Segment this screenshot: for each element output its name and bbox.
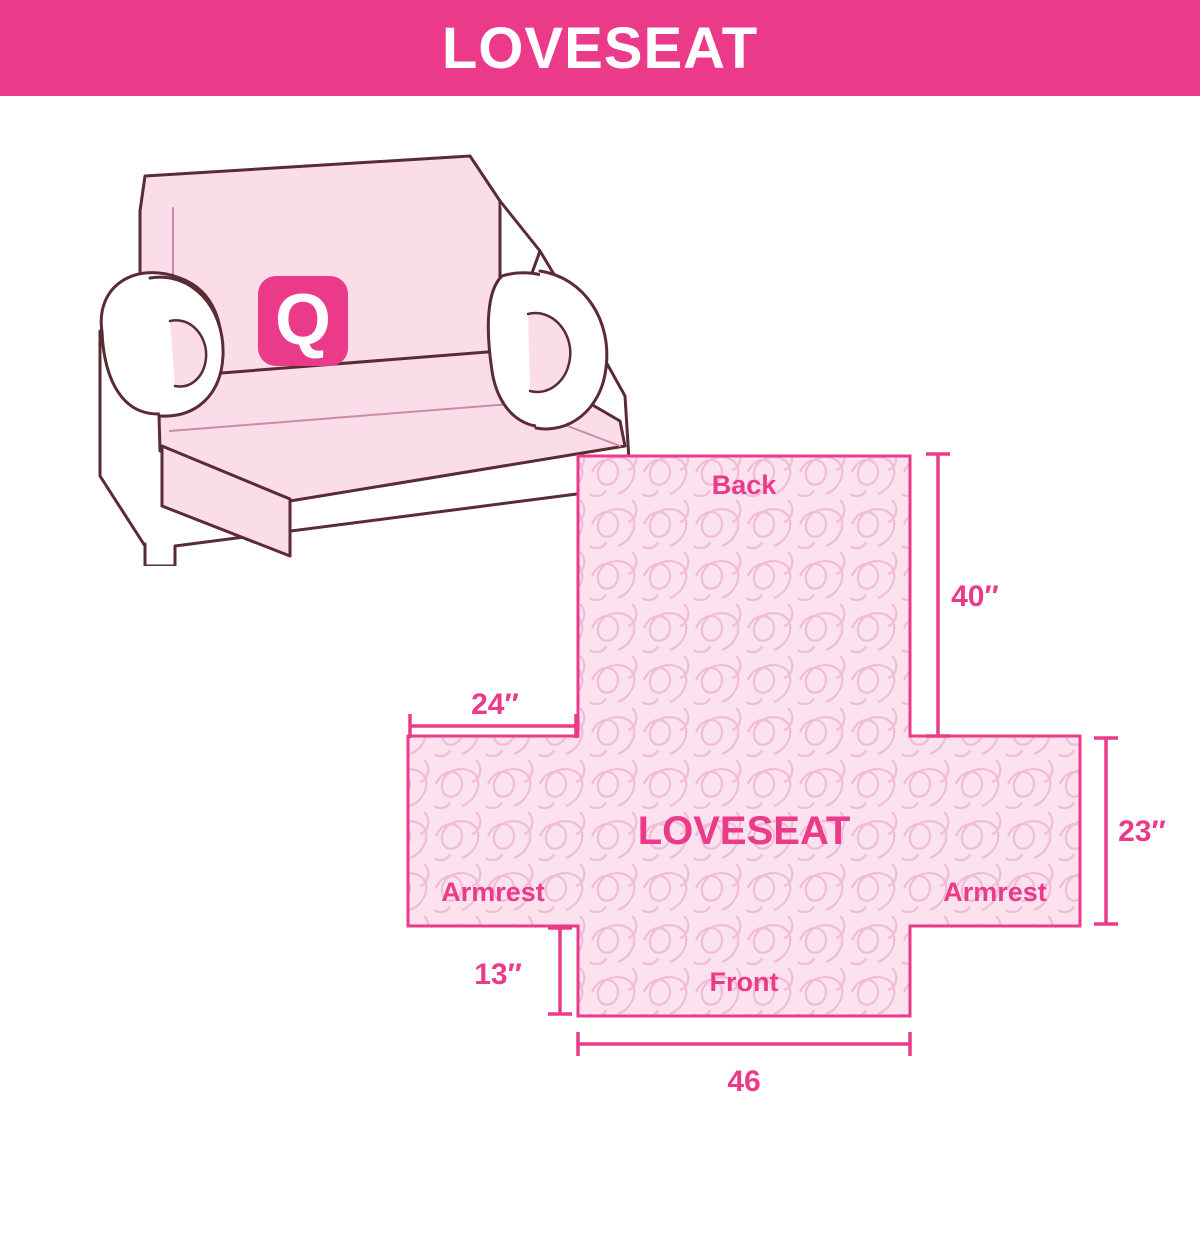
dim-armrest-depth: 23″ [1118, 815, 1166, 848]
cover-plan-diagram: Back LOVESEAT Armrest Armrest Front [380, 446, 1180, 1236]
page-title: LOVESEAT [442, 15, 758, 82]
diagram-stage: Q Back LOVESEAT Armrest [0, 96, 1200, 1200]
cover-quilt-pattern [408, 456, 1080, 1016]
logo-badge: Q [258, 276, 348, 366]
plan-svg: Back LOVESEAT Armrest Armrest Front [380, 446, 1180, 1236]
dim-front-flap: 13″ [474, 958, 522, 991]
dim-front-width: 46 [727, 1065, 760, 1098]
dim-back-width: 24″ [471, 688, 519, 721]
cover-cross-shape [408, 456, 1080, 1016]
dim-back-height: 40″ [951, 580, 999, 613]
label-back: Back [712, 470, 778, 500]
logo-letter: Q [275, 280, 331, 360]
page-header: LOVESEAT [0, 0, 1200, 96]
label-armrest-right: Armrest [943, 877, 1047, 907]
label-armrest-left: Armrest [441, 877, 545, 907]
label-front: Front [710, 967, 779, 997]
label-center-loveseat: LOVESEAT [638, 809, 851, 853]
